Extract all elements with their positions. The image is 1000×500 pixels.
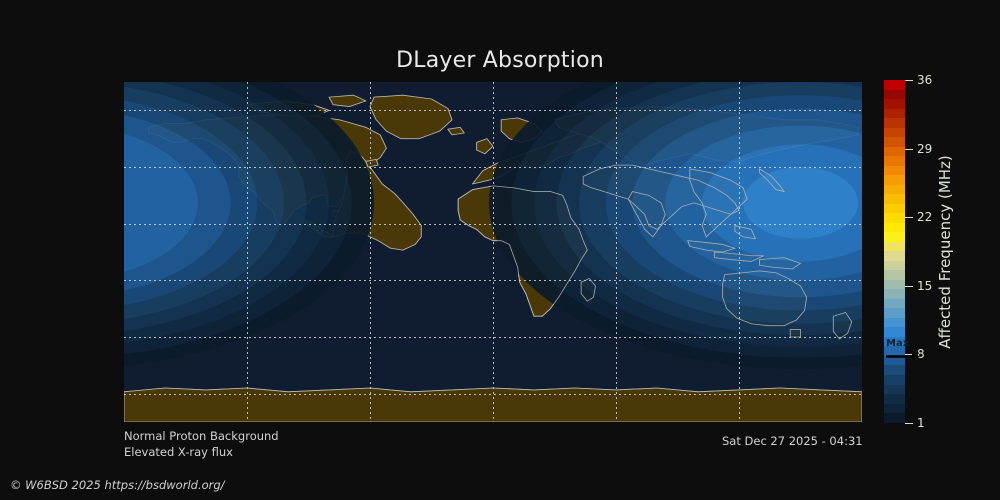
colorbar-band bbox=[884, 270, 905, 280]
colorbar-band bbox=[884, 109, 905, 119]
max-marker-label: Max bbox=[886, 338, 909, 349]
colorbar-band bbox=[884, 118, 905, 128]
colorbar-band bbox=[884, 128, 905, 138]
colorbar-band bbox=[884, 308, 905, 318]
colorbar-band bbox=[884, 166, 905, 176]
colorbar-band bbox=[884, 404, 905, 414]
colorbar-band bbox=[884, 280, 905, 290]
colorbar-band bbox=[884, 90, 905, 100]
colorbar-band bbox=[884, 223, 905, 233]
colorbar-band bbox=[884, 156, 905, 166]
colorbar-band bbox=[884, 175, 905, 185]
timestamp: Sat Dec 27 2025 - 04:31 bbox=[722, 434, 863, 448]
page-title: DLayer Absorption bbox=[0, 48, 1000, 73]
map-canvas bbox=[124, 82, 862, 422]
colorbar-axis-label-text: Affected Frequency (MHz) bbox=[936, 155, 954, 349]
footer-text: W6BSD 2025 https://bsdworld.org/ bbox=[22, 478, 225, 492]
colorbar-band bbox=[884, 385, 905, 395]
colorbar-band bbox=[884, 261, 905, 271]
colorbar-tick-15 bbox=[905, 286, 913, 287]
caption-xray-flux: Elevated X-ray flux bbox=[124, 444, 279, 460]
colorbar-band bbox=[884, 204, 905, 214]
colorbar-tick-1 bbox=[905, 423, 913, 424]
colorbar-band bbox=[884, 232, 905, 242]
colorbar-band bbox=[884, 185, 905, 195]
colorbar-band bbox=[884, 213, 905, 223]
status-captions: Normal Proton Background Elevated X-ray … bbox=[124, 428, 279, 460]
colorbar[interactable] bbox=[884, 80, 905, 423]
colorbar-tick-36 bbox=[905, 80, 913, 81]
colorbar-band bbox=[884, 80, 905, 90]
colorbar-band bbox=[884, 99, 905, 109]
colorbar-axis-label: Affected Frequency (MHz) bbox=[930, 80, 960, 423]
colorbar-band bbox=[884, 242, 905, 252]
colorbar-band bbox=[884, 194, 905, 204]
world-map[interactable] bbox=[124, 82, 862, 422]
colorbar-band bbox=[884, 365, 905, 375]
colorbar-band bbox=[884, 394, 905, 404]
footer-credit[interactable]: © W6BSD 2025 https://bsdworld.org/ bbox=[10, 478, 225, 492]
colorbar-band bbox=[884, 375, 905, 385]
colorbar-band bbox=[884, 289, 905, 299]
colorbar-band bbox=[884, 147, 905, 157]
copyright-icon: © bbox=[10, 478, 22, 492]
colorbar-band bbox=[884, 327, 905, 337]
colorbar-band bbox=[884, 137, 905, 147]
colorbar-tick-22 bbox=[905, 217, 913, 218]
colorbar-band bbox=[884, 251, 905, 261]
colorbar-band bbox=[884, 318, 905, 328]
colorbar-band bbox=[884, 299, 905, 309]
caption-proton-background: Normal Proton Background bbox=[124, 428, 279, 444]
max-marker: Max bbox=[886, 338, 926, 364]
app-root: DLayer Absorption bbox=[0, 0, 1000, 500]
colorbar-band bbox=[884, 413, 905, 423]
max-arrow-icon bbox=[886, 352, 920, 361]
colorbar-tick-29 bbox=[905, 149, 913, 150]
colorbar-tick-label-1: 1 bbox=[917, 416, 925, 430]
